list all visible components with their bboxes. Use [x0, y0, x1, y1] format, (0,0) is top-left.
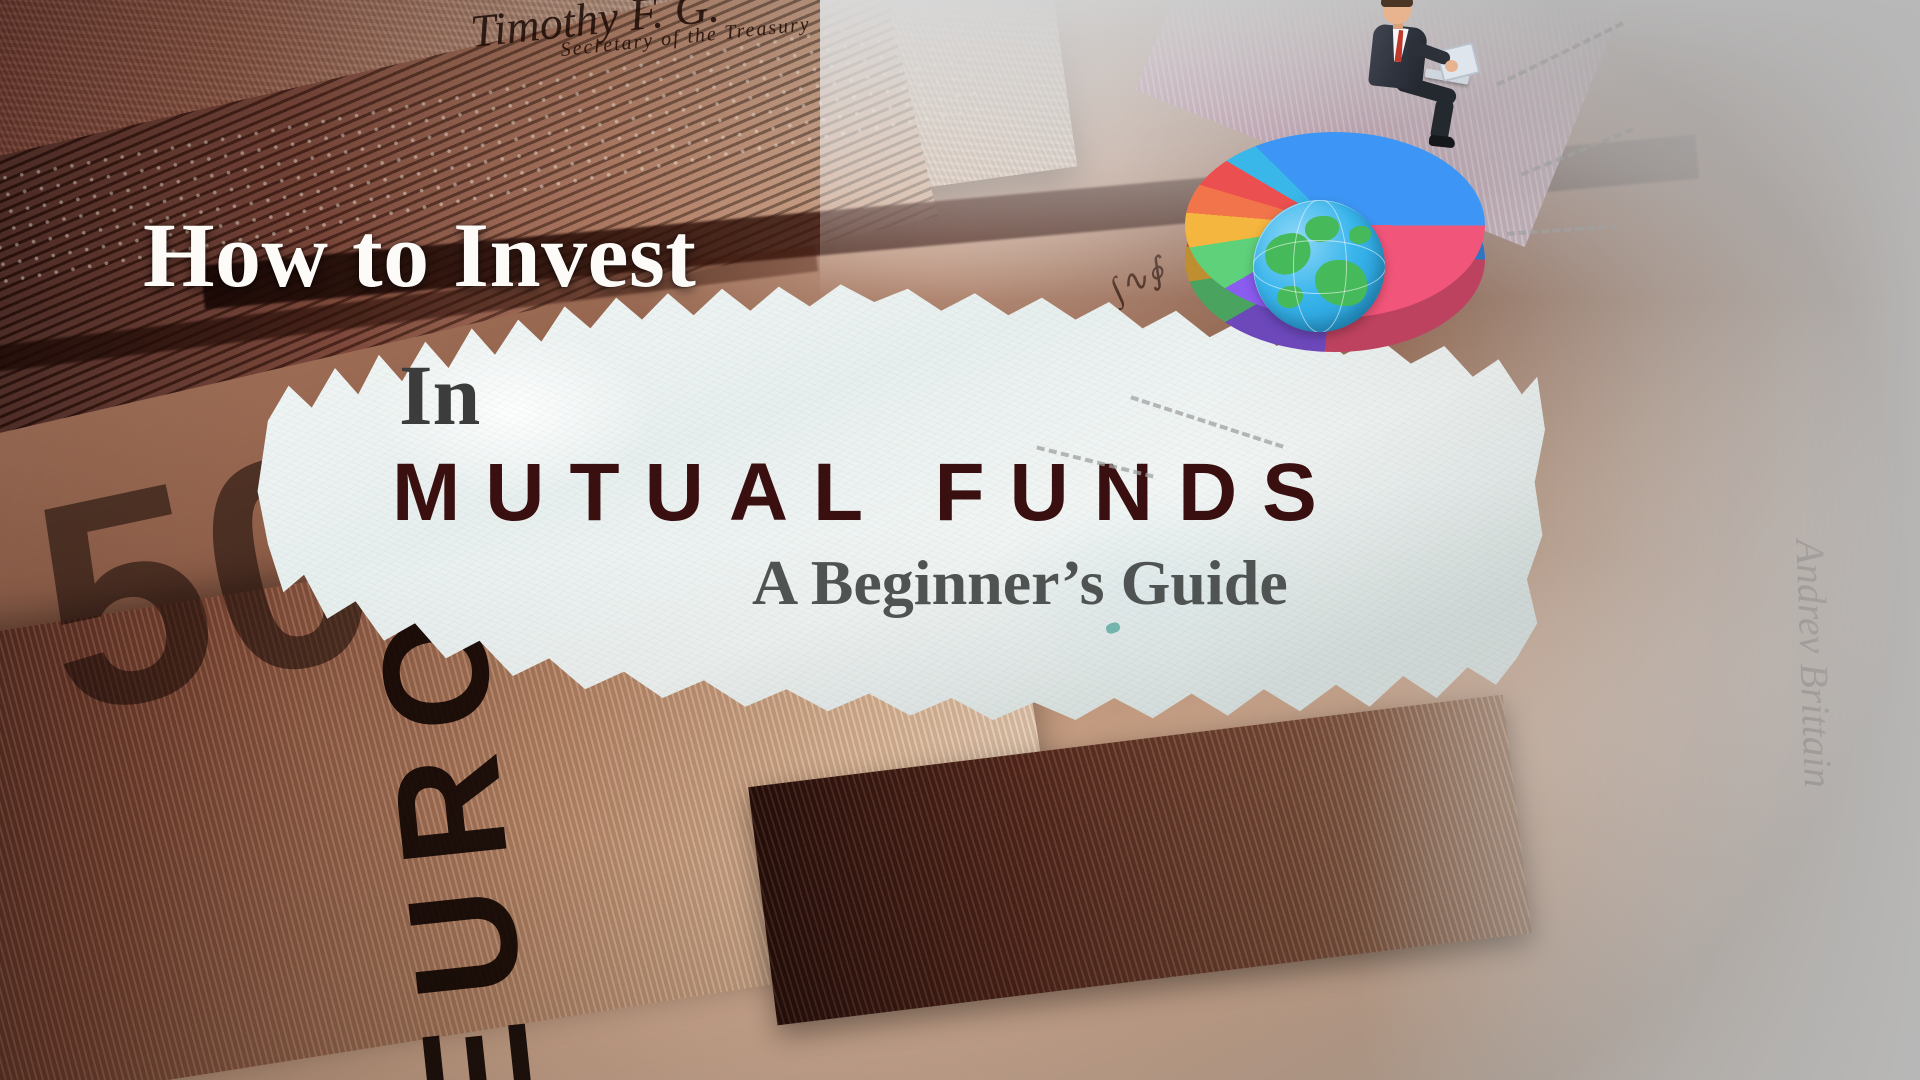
globe-gridline [1253, 240, 1385, 294]
businessman-figure [1341, 0, 1471, 148]
headline-connector: In [399, 352, 480, 438]
figure-shoe [1428, 135, 1455, 149]
pie-chart-illustration [1145, 0, 1575, 440]
figure-hair [1381, 0, 1413, 7]
page-title: MUTUAL FUNDS [392, 452, 1342, 534]
headline-primary: How to Invest [143, 209, 696, 301]
subtitle: A Beginner’s Guide [752, 551, 1288, 615]
globe-icon [1253, 200, 1385, 332]
banner-canvas: Timothy F. G. Secretary of the Treasury … [0, 0, 1920, 1080]
figure-hand [1445, 60, 1458, 72]
